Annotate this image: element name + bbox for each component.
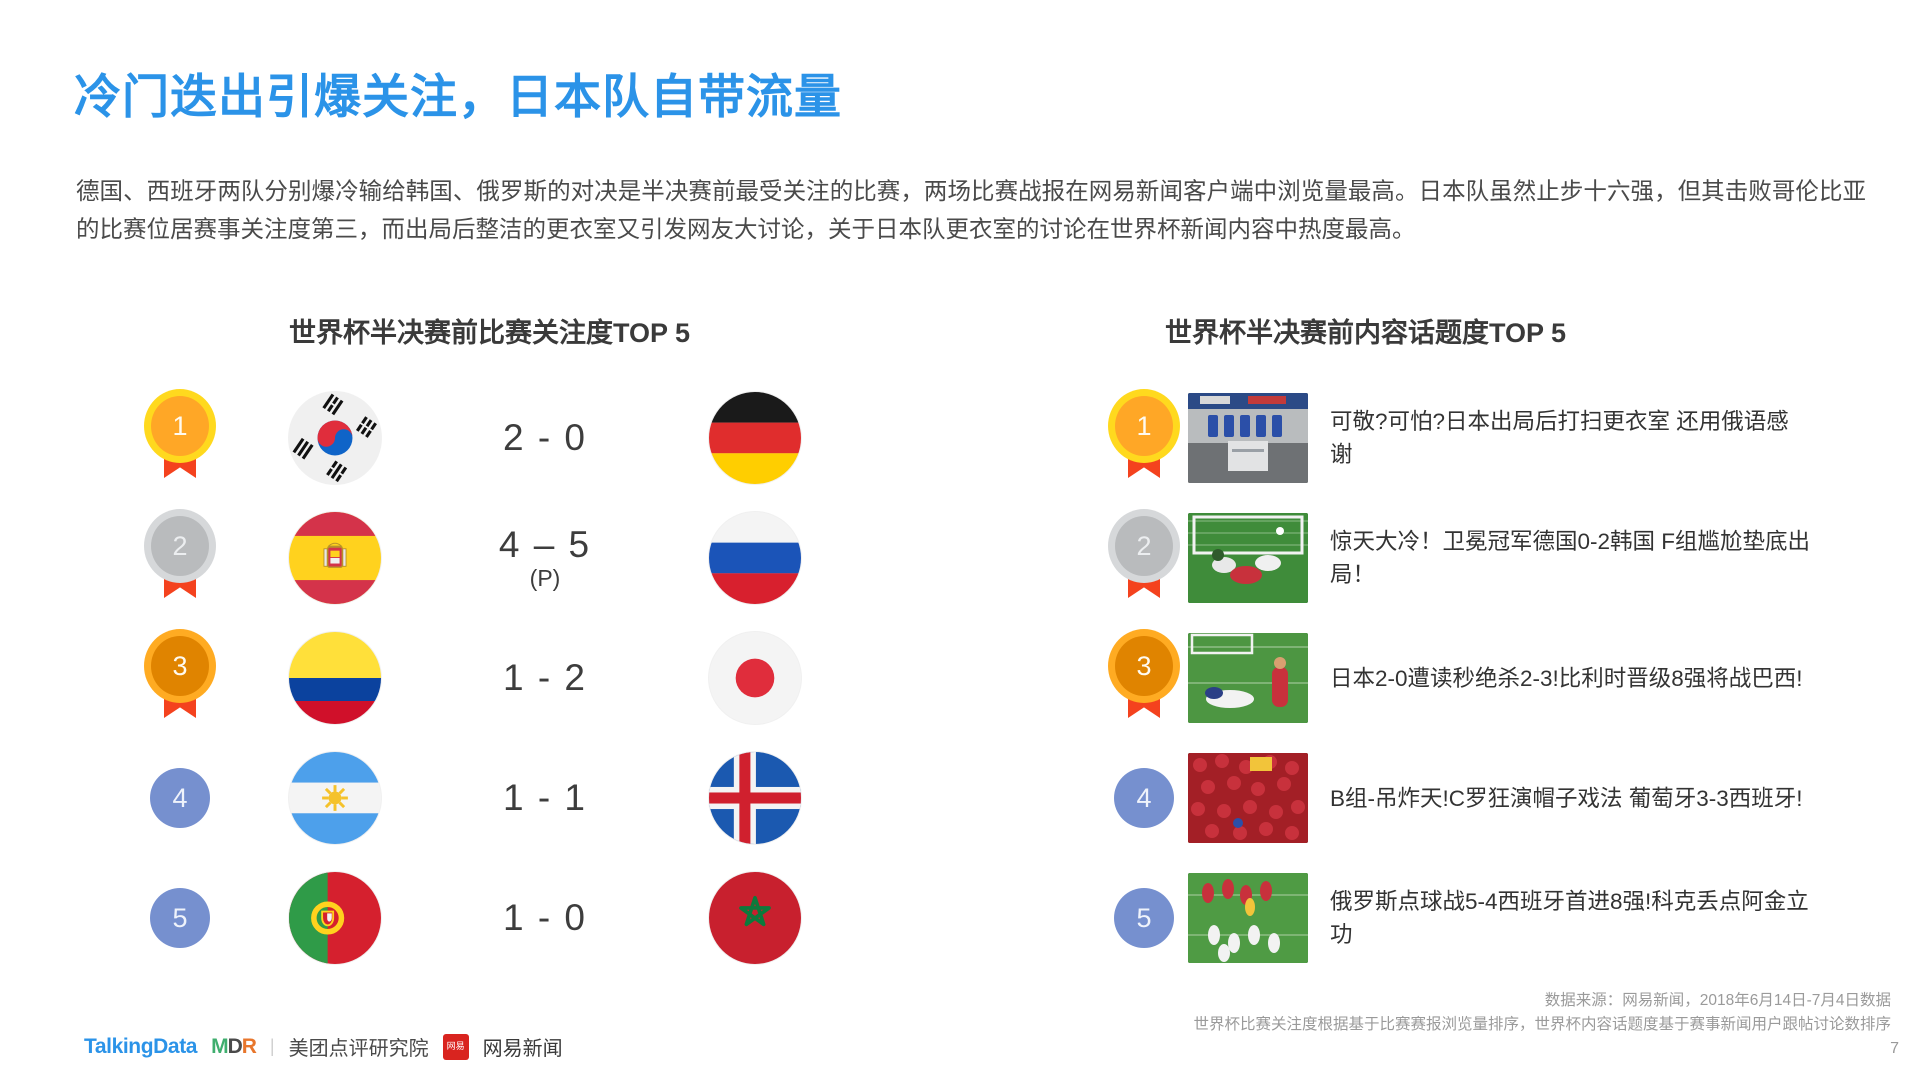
match-rank-3-number: 3: [151, 636, 209, 696]
footer-logos: TalkingData MDR | 美团点评研究院 网易 网易新闻: [84, 1032, 563, 1061]
away-flag-cell: [660, 512, 850, 604]
left-section-heading: 世界杯半决赛前比赛关注度TOP 5: [289, 311, 690, 350]
match-rank-1-medal-icon: 1: [151, 396, 209, 480]
match-score-note: (P): [430, 566, 660, 590]
locker-room-photo[interactable]: [1188, 393, 1308, 483]
mdr-r: R: [242, 1035, 256, 1058]
news-rank-5-number: 5: [1136, 903, 1151, 934]
match-rank-5-number: 5: [172, 903, 187, 934]
news-ranking-list: 1可敬?可怕?日本出局后打扫更衣室 还用俄语感谢2惊天大冷！卫冕冠军德国0-2韩…: [1100, 378, 1900, 978]
match-row: 41 - 1: [120, 738, 1000, 858]
news-rank-4-badge-plain: 4: [1114, 768, 1174, 828]
match-rank-cell: 3: [120, 636, 240, 720]
news-title[interactable]: B组-吊炸天!C罗狂演帽子戏法 葡萄牙3-3西班牙!: [1330, 782, 1810, 815]
match-rank-3-medal-icon: 3: [151, 636, 209, 720]
match-row: 51 - 0: [120, 858, 1000, 978]
news-title[interactable]: 日本2-0遭读秒绝杀2-3!比利时晋级8强将战巴西!: [1330, 662, 1810, 695]
news-rank-4-number: 4: [1136, 783, 1151, 814]
footnote-method: 世界杯比赛关注度根据基于比赛赛报浏览量排序，世界杯内容话题度基于赛事新闻用户跟帖…: [791, 1013, 1891, 1037]
news-rank-1-number: 1: [1115, 396, 1173, 456]
match-rank-cell: 1: [120, 396, 240, 480]
home-flag-cell: [240, 752, 430, 844]
news-title[interactable]: 俄罗斯点球战5-4西班牙首进8强!科克丢点阿金立功: [1330, 885, 1810, 951]
news-row[interactable]: 3日本2-0遭读秒绝杀2-3!比利时晋级8强将战巴西!: [1100, 618, 1900, 738]
news-row[interactable]: 1可敬?可怕?日本出局后打扫更衣室 还用俄语感谢: [1100, 378, 1900, 498]
away-flag-cell: [660, 872, 850, 964]
match-rank-cell: 4: [120, 768, 240, 828]
netease-mark-icon: 网易: [443, 1034, 469, 1060]
flag-japan-icon: [709, 632, 801, 724]
news-row[interactable]: 5俄罗斯点球战5-4西班牙首进8强!科克丢点阿金立功: [1100, 858, 1900, 978]
celebration-photo[interactable]: [1188, 873, 1308, 963]
goalmouth-scramble-photo[interactable]: [1188, 513, 1308, 603]
match-score: 2 - 0: [430, 419, 660, 458]
away-flag-cell: [660, 632, 850, 724]
meituan-research-logo: 美团点评研究院: [289, 1032, 429, 1061]
match-ranking-list: 12 - 024 – 5(P)31 - 241 - 151 - 0: [120, 378, 1000, 978]
home-flag-cell: [240, 392, 430, 484]
news-rank-cell: 4: [1100, 768, 1188, 828]
home-flag-cell: [240, 872, 430, 964]
flag-iceland-icon: [709, 752, 801, 844]
footnote: 数据来源：网易新闻，2018年6月14日-7月4日数据 世界杯比赛关注度根据基于…: [791, 989, 1891, 1037]
away-flag-cell: [660, 392, 850, 484]
match-rank-2-medal-icon: 2: [151, 516, 209, 600]
match-rank-4-number: 4: [172, 783, 187, 814]
news-row[interactable]: 2惊天大冷！卫冕冠军德国0-2韩国 F组尴尬垫底出局！: [1100, 498, 1900, 618]
news-rank-1-medal-icon: 1: [1115, 396, 1173, 480]
news-title[interactable]: 惊天大冷！卫冕冠军德国0-2韩国 F组尴尬垫底出局！: [1330, 525, 1810, 591]
flag-colombia-icon: [289, 632, 381, 724]
news-rank-3-medal-icon: 3: [1115, 636, 1173, 720]
news-title[interactable]: 可敬?可怕?日本出局后打扫更衣室 还用俄语感谢: [1330, 405, 1810, 471]
flag-argentina-icon: [289, 752, 381, 844]
match-score: 4 – 5(P): [430, 526, 660, 591]
match-rank-2-number: 2: [151, 516, 209, 576]
news-rank-2-medal-icon: 2: [1115, 516, 1173, 600]
home-flag-cell: [240, 632, 430, 724]
flag-germany-icon: [709, 392, 801, 484]
match-rank-cell: 2: [120, 516, 240, 600]
player-on-grass-photo[interactable]: [1188, 633, 1308, 723]
match-score: 1 - 1: [430, 779, 660, 818]
mdr-m: M: [211, 1035, 228, 1058]
away-flag-cell: [660, 752, 850, 844]
match-score: 1 - 2: [430, 659, 660, 698]
talkingdata-logo: TalkingData: [84, 1035, 197, 1059]
logo-divider: |: [270, 1036, 275, 1057]
match-rank-4-badge-plain: 4: [150, 768, 210, 828]
match-row: 12 - 0: [120, 378, 1000, 498]
flag-south-korea-icon: [289, 392, 381, 484]
flag-spain-icon: [289, 512, 381, 604]
footnote-source: 数据来源：网易新闻，2018年6月14日-7月4日数据: [791, 989, 1891, 1013]
flag-portugal-icon: [289, 872, 381, 964]
news-rank-cell: 5: [1100, 888, 1188, 948]
slide-root: 冷门迭出引爆关注，日本队自带流量 德国、西班牙两队分别爆冷输给韩国、俄罗斯的对决…: [0, 0, 1921, 1080]
intro-paragraph: 德国、西班牙两队分别爆冷输给韩国、俄罗斯的对决是半决赛前最受关注的比赛，两场比赛…: [76, 172, 1866, 248]
match-row: 31 - 2: [120, 618, 1000, 738]
page-number: 7: [1890, 1040, 1899, 1058]
right-section-heading: 世界杯半决赛前内容话题度TOP 5: [1165, 311, 1566, 350]
news-rank-cell: 3: [1100, 636, 1188, 720]
mdr-logo: MDR: [211, 1035, 256, 1059]
match-row: 24 – 5(P): [120, 498, 1000, 618]
match-rank-5-badge-plain: 5: [150, 888, 210, 948]
home-flag-cell: [240, 512, 430, 604]
mdr-d: D: [228, 1035, 242, 1058]
news-rank-3-number: 3: [1115, 636, 1173, 696]
news-row[interactable]: 4B组-吊炸天!C罗狂演帽子戏法 葡萄牙3-3西班牙!: [1100, 738, 1900, 858]
flag-morocco-icon: [709, 872, 801, 964]
news-rank-5-badge-plain: 5: [1114, 888, 1174, 948]
page-title: 冷门迭出引爆关注，日本队自带流量: [74, 58, 842, 127]
news-rank-cell: 1: [1100, 396, 1188, 480]
match-score: 1 - 0: [430, 899, 660, 938]
netease-news-logo: 网易新闻: [483, 1032, 563, 1061]
flag-russia-icon: [709, 512, 801, 604]
red-crowd-photo[interactable]: [1188, 753, 1308, 843]
match-rank-cell: 5: [120, 888, 240, 948]
news-rank-2-number: 2: [1115, 516, 1173, 576]
match-rank-1-number: 1: [151, 396, 209, 456]
news-rank-cell: 2: [1100, 516, 1188, 600]
